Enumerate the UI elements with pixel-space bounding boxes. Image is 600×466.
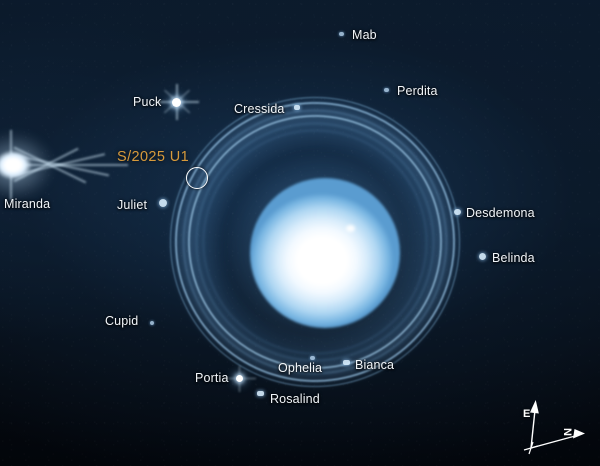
- moon-label-puck: Puck: [133, 95, 161, 109]
- planet-bright-spot: [346, 225, 355, 232]
- moon-label-cupid: Cupid: [105, 314, 138, 328]
- moon-label-rosalind: Rosalind: [270, 392, 320, 406]
- moon-label-miranda: Miranda: [4, 197, 50, 211]
- moon-dot-portia: [236, 375, 243, 382]
- moon-label-desdemona: Desdemona: [466, 206, 535, 220]
- compass-label-east: E: [523, 408, 530, 420]
- moon-dot-desdemona: [454, 209, 461, 215]
- moon-dot-perdita: [384, 88, 389, 92]
- compass-axes-icon: [505, 392, 593, 458]
- moon-dot-ophelia: [310, 356, 315, 360]
- moon-dot-mab: [339, 32, 344, 36]
- compass-label-north: N: [561, 428, 573, 436]
- moon-dot-belinda: [479, 253, 486, 260]
- compass-rose: E N: [505, 392, 593, 458]
- moon-label-portia: Portia: [195, 371, 229, 385]
- new-moon-label-s2025u1: S/2025 U1: [117, 149, 189, 165]
- planet-disk-uranus: [250, 178, 400, 328]
- moon-label-belinda: Belinda: [492, 251, 535, 265]
- moon-label-ophelia: Ophelia: [278, 361, 322, 375]
- moon-label-bianca: Bianca: [355, 358, 394, 372]
- moon-dot-puck: [172, 98, 181, 107]
- moon-dot-cressida: [294, 105, 300, 110]
- uranus-image: Mab Perdita Cressida Puck Miranda Juliet…: [0, 0, 600, 466]
- moon-dot-bianca: [343, 360, 350, 365]
- new-moon-circle-marker: [186, 167, 208, 189]
- moon-label-cressida: Cressida: [234, 102, 285, 116]
- moon-dot-rosalind: [257, 391, 264, 396]
- moon-label-mab: Mab: [352, 28, 377, 42]
- moon-label-juliet: Juliet: [117, 198, 147, 212]
- moon-dot-cupid: [150, 321, 154, 325]
- moon-dot-juliet: [159, 199, 167, 207]
- moon-label-perdita: Perdita: [397, 84, 438, 98]
